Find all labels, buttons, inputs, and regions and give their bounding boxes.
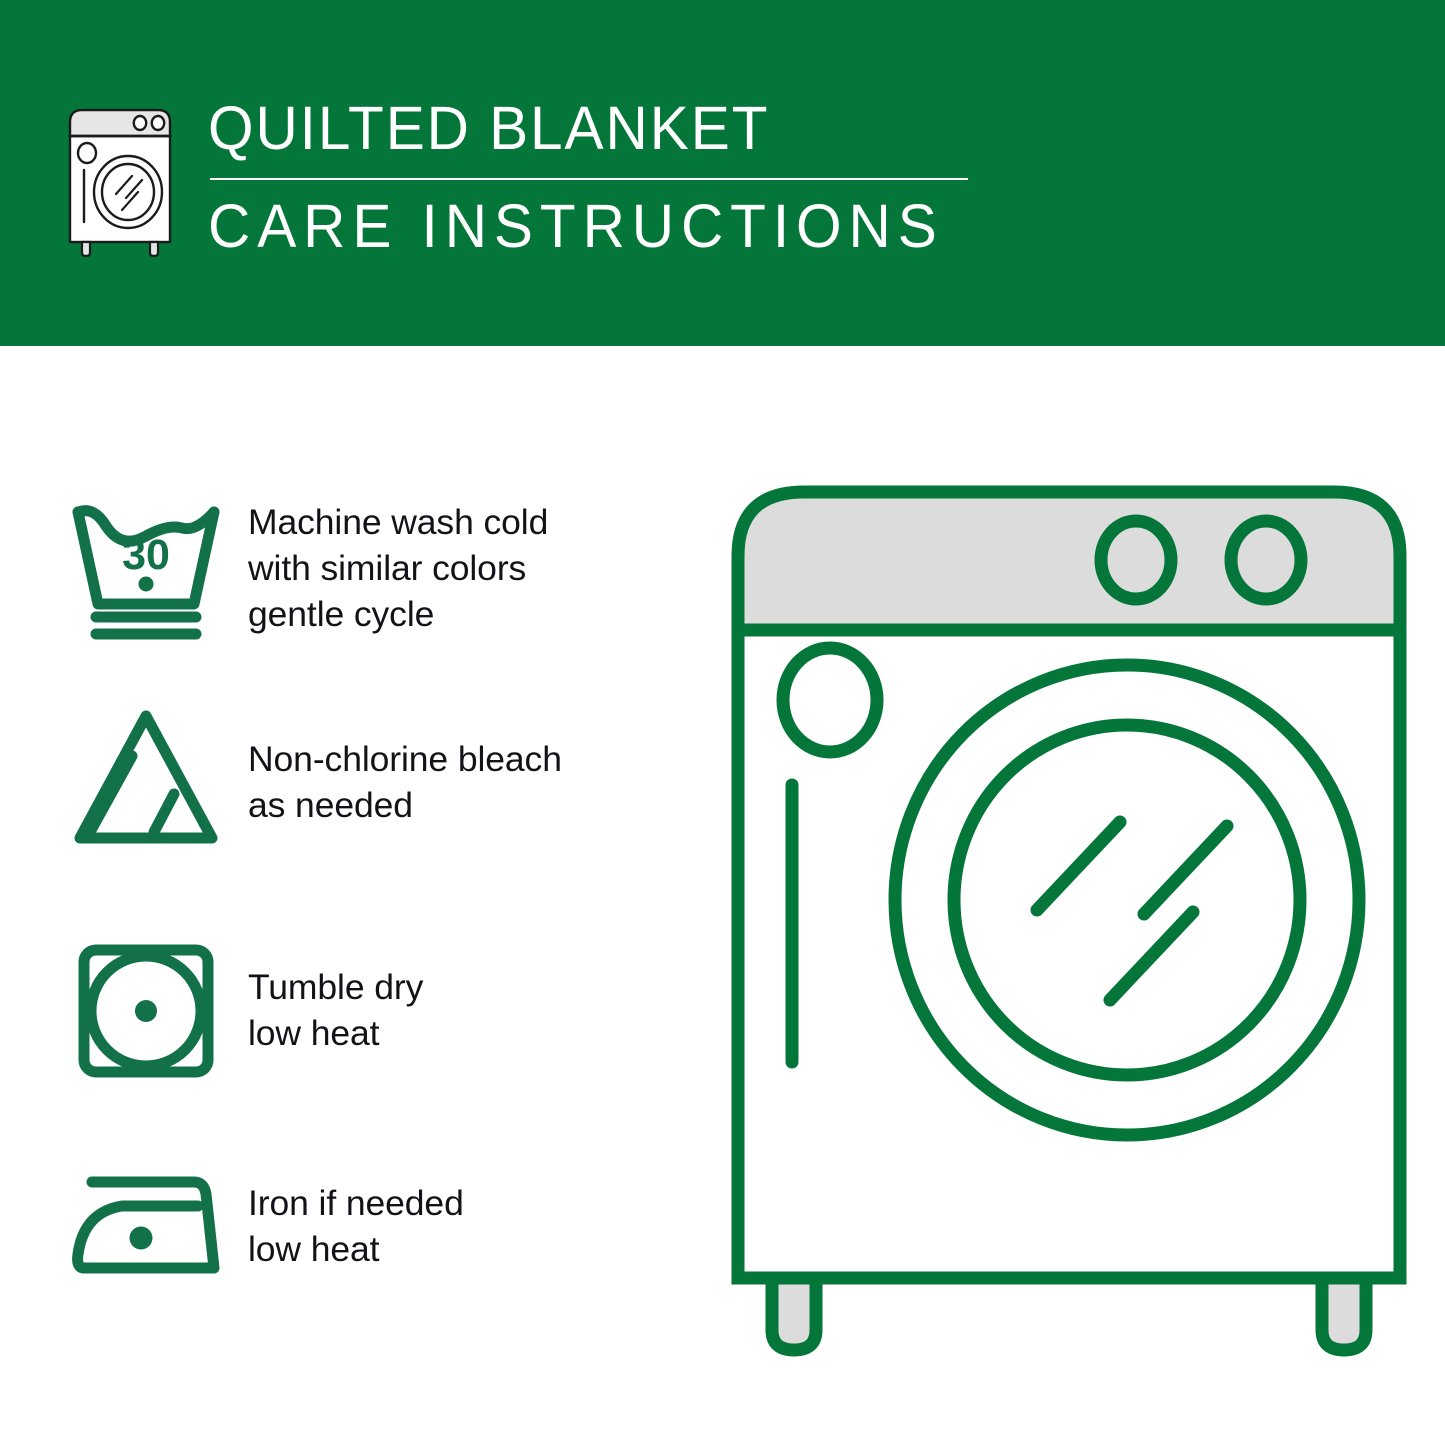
care-item-label: Tumble dry low heat [248,964,423,1056]
header-band: QUILTED BLANKET CARE INSTRUCTIONS [0,0,1445,346]
leg-left [772,1278,816,1350]
header-title-block: QUILTED BLANKET CARE INSTRUCTIONS [208,98,974,257]
iron-low-heat-icon [62,1142,230,1310]
control-knob-left[interactable] [1101,521,1171,599]
care-item-bleach: Non-chlorine bleach as needed [62,698,702,866]
iron-heat-dot-icon [130,1227,153,1250]
care-instruction-list: 30 Machine wash cold with similar colors… [0,346,720,1445]
detergent-dial[interactable] [783,648,877,752]
leg-right [1322,1278,1366,1350]
non-chlorine-bleach-triangle-icon [62,698,230,866]
front-load-washing-machine-illustration [712,470,1432,1370]
care-item-label: Iron if needed low heat [248,1180,464,1272]
tumble-dry-low-icon [62,926,230,1094]
washing-machine-icon [62,106,182,258]
care-instructions-poster: QUILTED BLANKET CARE INSTRUCTIONS 30 Mac… [0,0,1445,1445]
header-content: QUILTED BLANKET CARE INSTRUCTIONS [62,98,974,258]
care-item-label: Non-chlorine bleach as needed [248,736,562,828]
page-title: QUILTED BLANKET [208,98,944,159]
wash-temperature-value: 30 [122,531,170,579]
care-item-label: Machine wash cold with similar colors ge… [248,499,548,637]
care-item-tumble-dry: Tumble dry low heat [62,926,702,1094]
page-subtitle: CARE INSTRUCTIONS [208,196,944,257]
wash-dot-icon [139,577,154,592]
control-knob-right[interactable] [1231,521,1301,599]
care-item-iron: Iron if needed low heat [62,1142,702,1310]
title-divider [210,178,968,180]
dry-heat-dot-icon [135,1000,157,1022]
care-item-machine-wash: 30 Machine wash cold with similar colors… [62,484,702,652]
wash-tub-30-icon: 30 [62,484,230,652]
